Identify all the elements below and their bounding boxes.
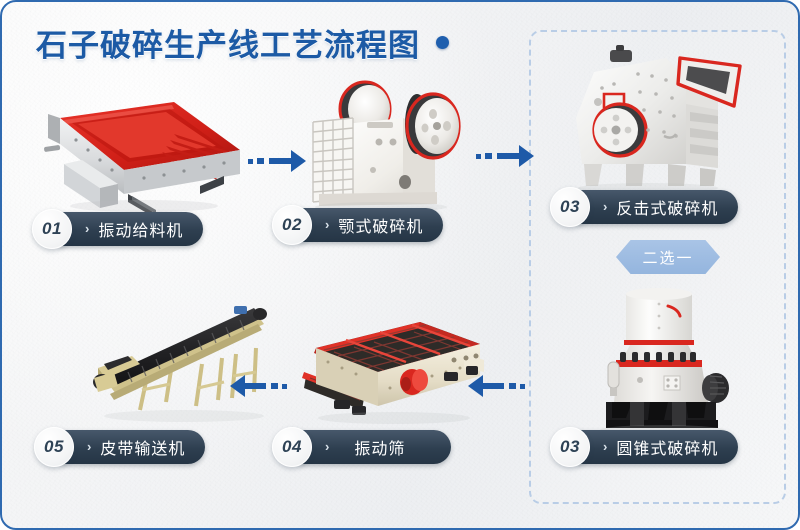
step-number-05: 05	[34, 427, 74, 467]
arrow-screen-to-conveyor	[230, 375, 287, 397]
step-label-04: 振动筛	[354, 435, 405, 459]
jaw-crusher-image	[307, 74, 479, 219]
arrow-head	[230, 375, 245, 397]
step-label-01: 振动给料机	[98, 217, 183, 241]
step-number-04: 04	[272, 427, 312, 467]
flowchart-canvas: 石子破碎生产线工艺流程图	[0, 0, 800, 530]
arrow-crusher-to-screen	[468, 375, 525, 397]
arrow-dash-tail	[271, 383, 287, 389]
arrow-shaft	[497, 153, 519, 159]
step-pill-02[interactable]: › 颚式破碎机	[299, 208, 443, 242]
step-badge-05[interactable]: 05 › 皮带输送机	[34, 427, 205, 467]
chevron-right-icon: ›	[87, 439, 92, 454]
chevron-right-icon: ›	[603, 439, 608, 454]
bullet-dot-icon	[436, 36, 449, 49]
page-title: 石子破碎生产线工艺流程图	[36, 20, 449, 65]
step-badge-03-impact[interactable]: 03 › 反击式破碎机	[550, 187, 738, 227]
arrow-head	[468, 375, 483, 397]
arrow-jaw-to-impact	[476, 145, 534, 167]
step-pill-05[interactable]: › 皮带输送机	[61, 430, 205, 464]
step-pill-03-impact[interactable]: › 反击式破碎机	[577, 190, 738, 224]
chevron-right-icon: ›	[85, 221, 90, 236]
step-pill-04[interactable]: › 振动筛	[299, 430, 451, 464]
cone-crusher-image	[590, 284, 740, 441]
step-label-02: 颚式破碎机	[338, 213, 423, 237]
step-badge-04[interactable]: 04 › 振动筛	[272, 427, 451, 467]
step-number-01: 01	[32, 209, 72, 249]
arrow-shaft	[269, 158, 291, 164]
arrow-dash-tail	[476, 153, 492, 159]
step-label-03-cone: 圆锥式破碎机	[616, 435, 718, 459]
impact-crusher-image	[568, 44, 758, 199]
step-label-05: 皮带输送机	[100, 435, 185, 459]
arrow-head	[519, 145, 534, 167]
page-title-text: 石子破碎生产线工艺流程图	[36, 20, 420, 65]
chevron-right-icon: ›	[325, 217, 330, 232]
step-pill-01[interactable]: › 振动给料机	[59, 212, 203, 246]
vibrating-feeder-image	[24, 90, 254, 217]
step-number-03-impact: 03	[550, 187, 590, 227]
arrow-dash-tail	[248, 158, 264, 164]
step-number-02: 02	[272, 205, 312, 245]
arrow-shaft	[482, 383, 504, 389]
arrow-head	[291, 150, 306, 172]
step-pill-03-cone[interactable]: › 圆锥式破碎机	[577, 430, 738, 464]
chevron-right-icon: ›	[603, 199, 608, 214]
choose-one-of-two-badge: 二选一	[616, 240, 720, 274]
step-badge-03-cone[interactable]: 03 › 圆锥式破碎机	[550, 427, 738, 467]
arrow-shaft	[244, 383, 266, 389]
step-badge-01[interactable]: 01 › 振动给料机	[32, 209, 203, 249]
chevron-right-icon: ›	[325, 439, 330, 454]
belt-conveyor-image	[84, 302, 284, 435]
step-badge-02[interactable]: 02 › 颚式破碎机	[272, 205, 443, 245]
vibrating-screen-image	[294, 314, 494, 437]
arrow-dash-tail	[509, 383, 525, 389]
step-label-03-impact: 反击式破碎机	[616, 195, 718, 219]
arrow-feeder-to-jaw	[248, 150, 306, 172]
step-number-03-cone: 03	[550, 427, 590, 467]
